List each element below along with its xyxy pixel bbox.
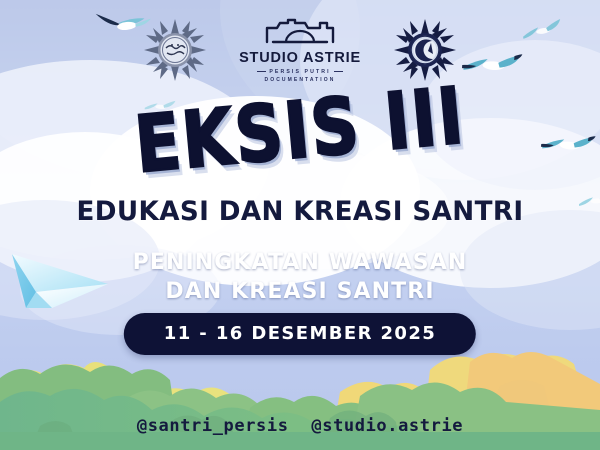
handle-studio-astrie: @studio.astrie bbox=[311, 416, 463, 436]
poster-tagline: PENINGKATAN WAWASAN DAN KREASI SANTRI bbox=[0, 248, 600, 306]
studio-astrie-logo: STUDIO ASTRIE PERSIS PUTRI DOCUMENTATION bbox=[225, 17, 375, 83]
camera-icon bbox=[264, 17, 336, 50]
studio-name-text: STUDIO ASTRIE bbox=[239, 51, 361, 66]
persis-sun-emblem-icon bbox=[143, 18, 207, 82]
studio-sub1-row: PERSIS PUTRI bbox=[257, 69, 342, 75]
tagline-line-1: PENINGKATAN WAWASAN bbox=[0, 248, 600, 277]
social-handles: @santri_persis @studio.astrie bbox=[0, 416, 600, 436]
handle-santri-persis: @santri_persis bbox=[137, 416, 289, 436]
poster-canvas: STUDIO ASTRIE PERSIS PUTRI DOCUMENTATION bbox=[0, 0, 600, 450]
studio-sub1-text: PERSIS PUTRI bbox=[269, 69, 330, 75]
poster-subtitle: EDUKASI DAN KREASI SANTRI bbox=[9, 196, 591, 227]
tagline-line-2: DAN KREASI SANTRI bbox=[0, 277, 600, 306]
